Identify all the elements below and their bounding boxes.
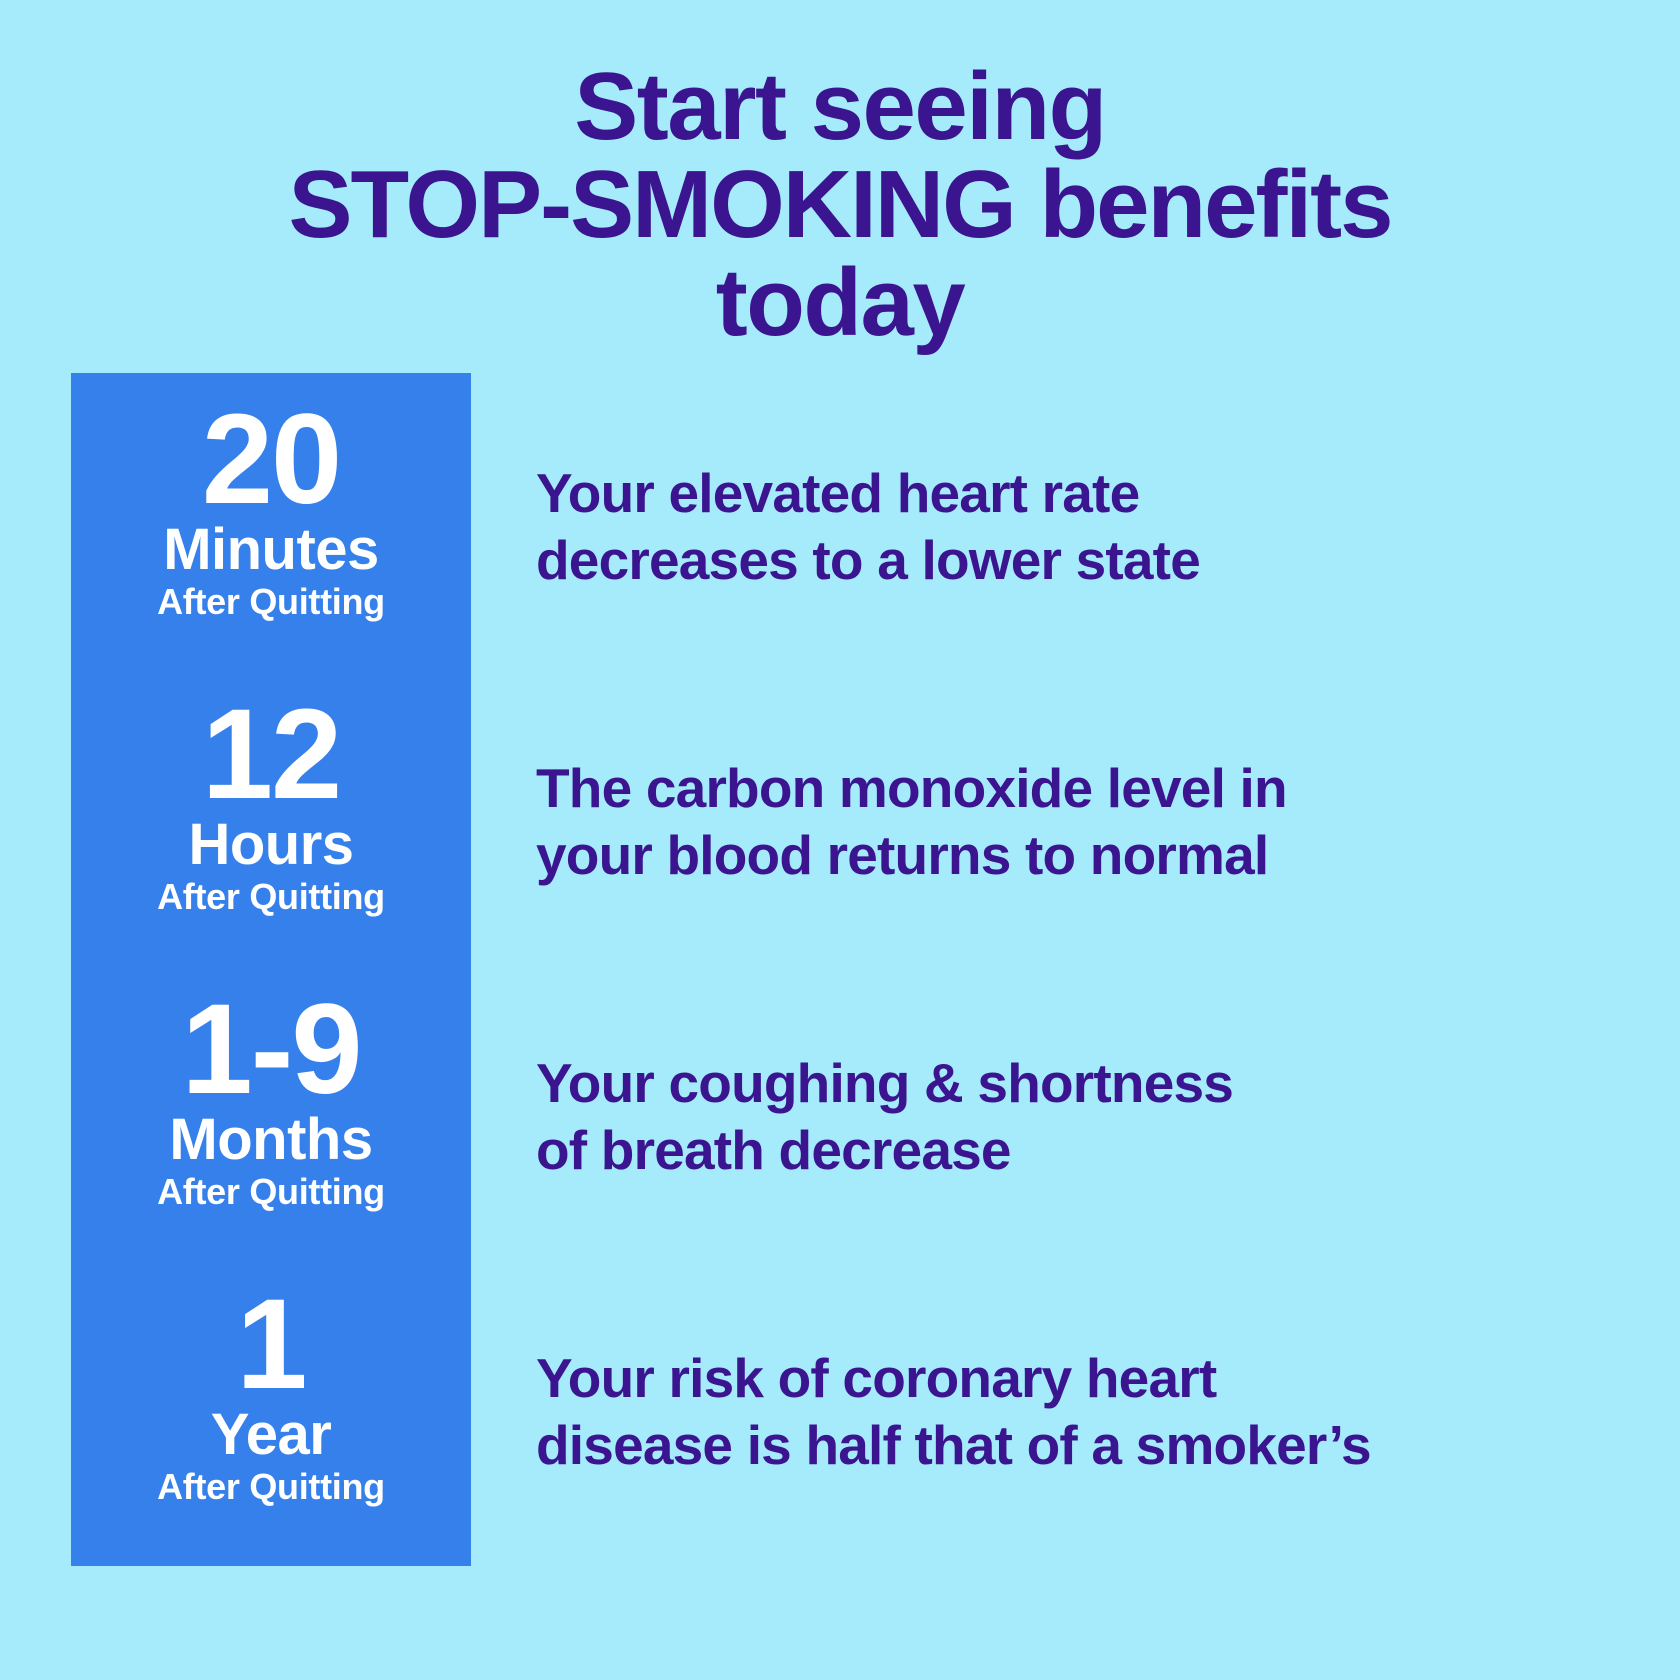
benefit-description-line-2: disease is half that of a smoker’s [536, 1412, 1626, 1479]
benefit-description-line-2: decreases to a lower state [536, 527, 1626, 594]
timeline-row: 1 Year After Quitting Your risk of coron… [0, 1258, 1680, 1566]
stat-card-20-minutes: 20 Minutes After Quitting [71, 373, 471, 681]
benefit-description: Your risk of coronary heart disease is h… [536, 1345, 1626, 1479]
stat-after-quitting-label: After Quitting [71, 877, 471, 917]
benefit-description: Your elevated heart rate decreases to a … [536, 460, 1626, 594]
stat-value: 1 [71, 1280, 471, 1411]
benefit-description-line-1: Your elevated heart rate [536, 460, 1626, 527]
stat-after-quitting-label: After Quitting [71, 582, 471, 622]
timeline-row: 12 Hours After Quitting The carbon monox… [0, 668, 1680, 976]
infographic-poster: Start seeing STOP-SMOKING benefits today… [0, 0, 1680, 1680]
stat-unit: Months [71, 1110, 471, 1171]
stat-card-1-year: 1 Year After Quitting [71, 1258, 471, 1566]
stat-value: 1-9 [71, 985, 471, 1116]
page-title: Start seeing STOP-SMOKING benefits today [0, 58, 1680, 352]
benefit-description: Your coughing & shortness of breath decr… [536, 1050, 1626, 1184]
stat-unit: Hours [71, 815, 471, 876]
stat-card-1-9-months: 1-9 Months After Quitting [71, 963, 471, 1271]
title-line-3: today [0, 254, 1680, 352]
stat-unit: Minutes [71, 520, 471, 581]
stat-unit: Year [71, 1405, 471, 1466]
stat-after-quitting-label: After Quitting [71, 1172, 471, 1212]
title-line-1: Start seeing [0, 58, 1680, 156]
benefit-description-line-1: Your coughing & shortness [536, 1050, 1626, 1117]
stat-value: 12 [71, 690, 471, 821]
stat-after-quitting-label: After Quitting [71, 1467, 471, 1507]
stat-value: 20 [71, 395, 471, 526]
benefit-description: The carbon monoxide level in your blood … [536, 755, 1626, 889]
benefit-description-line-1: Your risk of coronary heart [536, 1345, 1626, 1412]
title-line-2: STOP-SMOKING benefits [0, 156, 1680, 254]
benefit-description-line-2: your blood returns to normal [536, 822, 1626, 889]
benefit-description-line-2: of breath decrease [536, 1117, 1626, 1184]
timeline-row: 20 Minutes After Quitting Your elevated … [0, 373, 1680, 681]
timeline-row: 1-9 Months After Quitting Your coughing … [0, 963, 1680, 1271]
benefit-description-line-1: The carbon monoxide level in [536, 755, 1626, 822]
stat-card-12-hours: 12 Hours After Quitting [71, 668, 471, 976]
